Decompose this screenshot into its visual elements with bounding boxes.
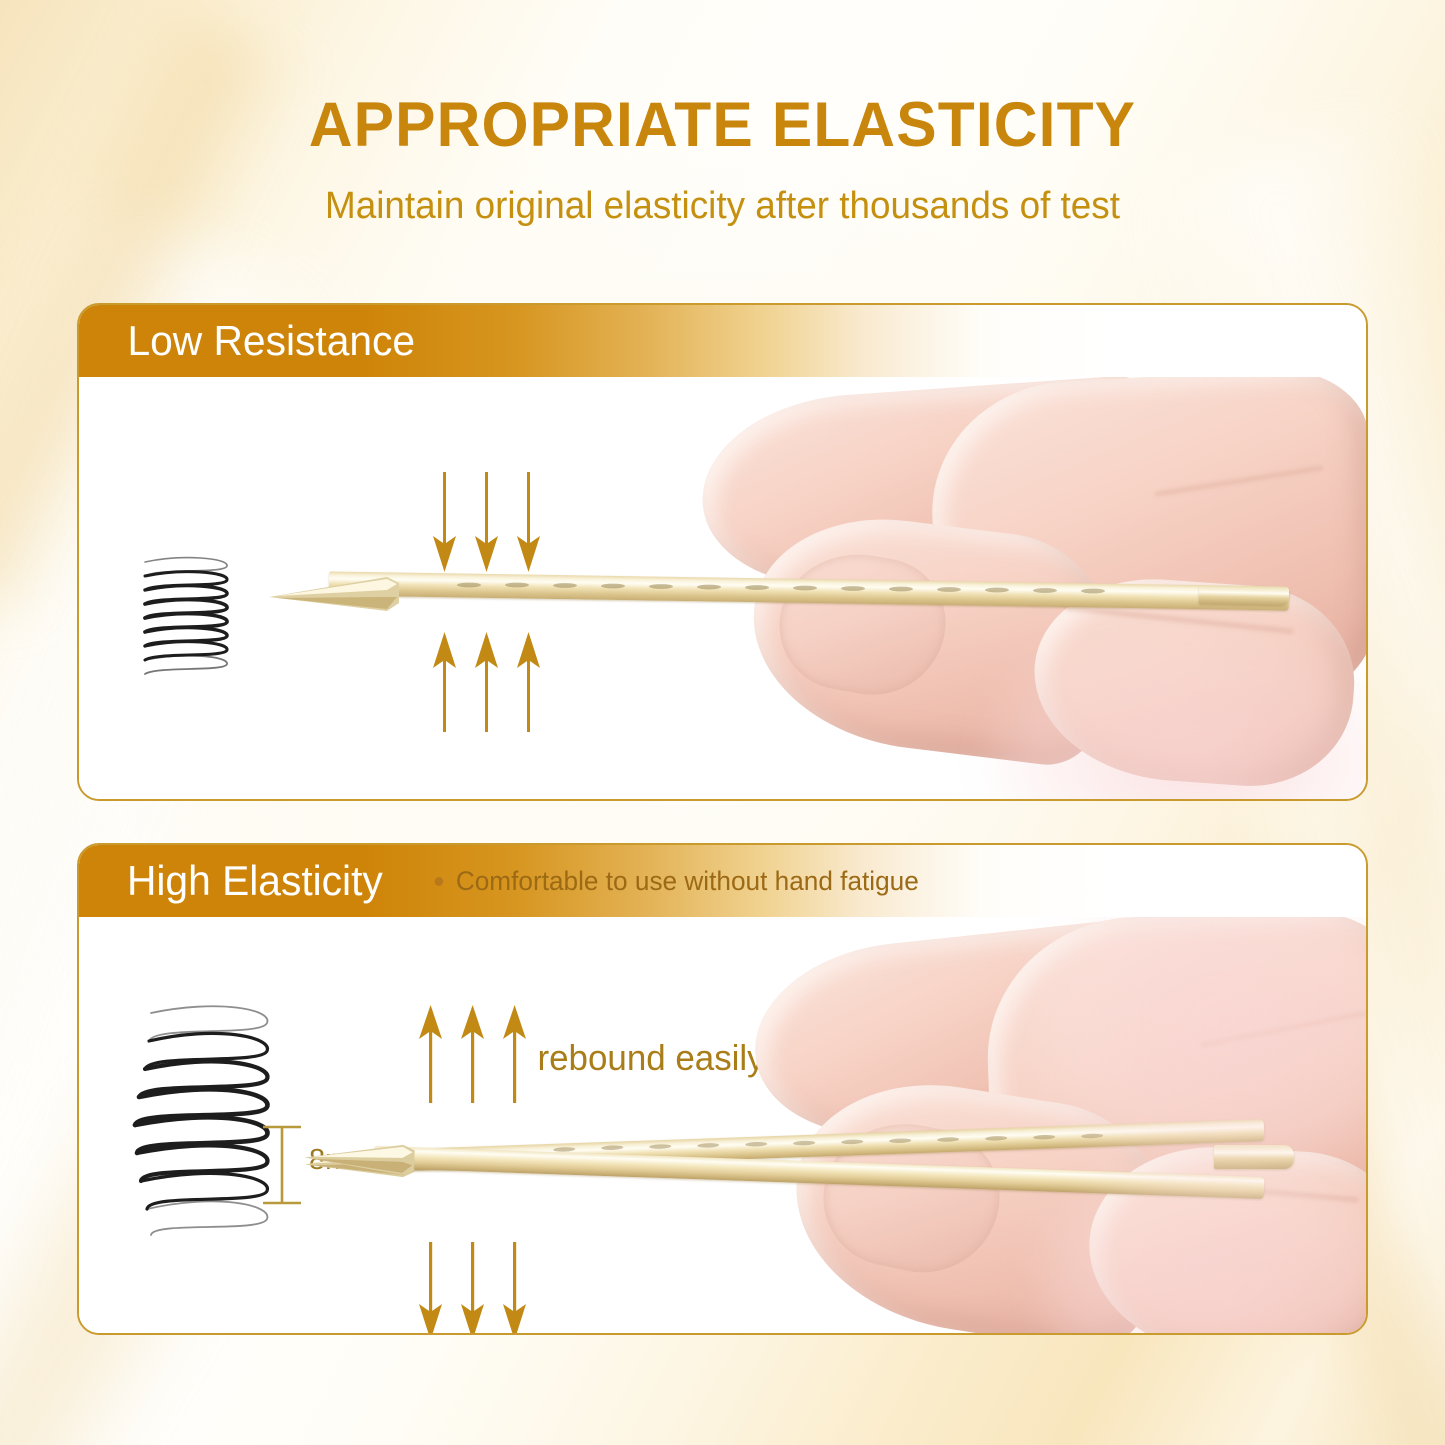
tweezers-open <box>274 1097 1294 1247</box>
page-subtitle: Maintain original elasticity after thous… <box>22 185 1424 228</box>
down-arrows-bottom <box>417 1242 537 1333</box>
tweezer-tail <box>1214 1145 1294 1169</box>
tweezer-tip <box>269 571 399 619</box>
card-low-resistance: Low Resistance <box>77 303 1368 801</box>
tweezer-tail <box>1199 586 1289 606</box>
card-title: High Elasticity <box>127 857 383 905</box>
tweezer-grip-texture <box>449 579 1229 597</box>
compressed-spring-icon <box>127 552 247 682</box>
card-body-high-elasticity: rebound easily 8mm <box>79 917 1366 1333</box>
up-arrows-top <box>417 1005 537 1103</box>
up-arrows-bottom <box>431 632 551 732</box>
photo-color-bleed <box>986 629 1366 799</box>
tweezer-tip <box>304 1140 415 1178</box>
card-header-high-elasticity: High Elasticity Comfortable to use witho… <box>79 845 1366 917</box>
knuckle-crease <box>1155 466 1324 497</box>
knuckle-crease <box>1200 1011 1366 1047</box>
page-title: APPROPRIATE ELASTICITY <box>29 92 1416 159</box>
card-header-note: Comfortable to use without hand fatigue <box>434 866 918 897</box>
rebound-annotation: rebound easily <box>538 1037 765 1079</box>
card-header-note-label: Comfortable to use without hand fatigue <box>456 866 919 897</box>
card-title: Low Resistance <box>127 317 415 365</box>
card-body-low-resistance <box>79 377 1366 799</box>
card-high-elasticity: High Elasticity Comfortable to use witho… <box>77 843 1368 1335</box>
infographic-page: APPROPRIATE ELASTICITY Maintain original… <box>0 0 1445 1445</box>
card-header-low-resistance: Low Resistance <box>79 305 1366 377</box>
tweezers-closed <box>269 557 1279 637</box>
header: APPROPRIATE ELASTICITY Maintain original… <box>0 92 1445 228</box>
back-of-hand <box>926 377 1366 718</box>
thumb <box>740 504 1125 771</box>
bullet-dot-icon <box>434 877 443 886</box>
